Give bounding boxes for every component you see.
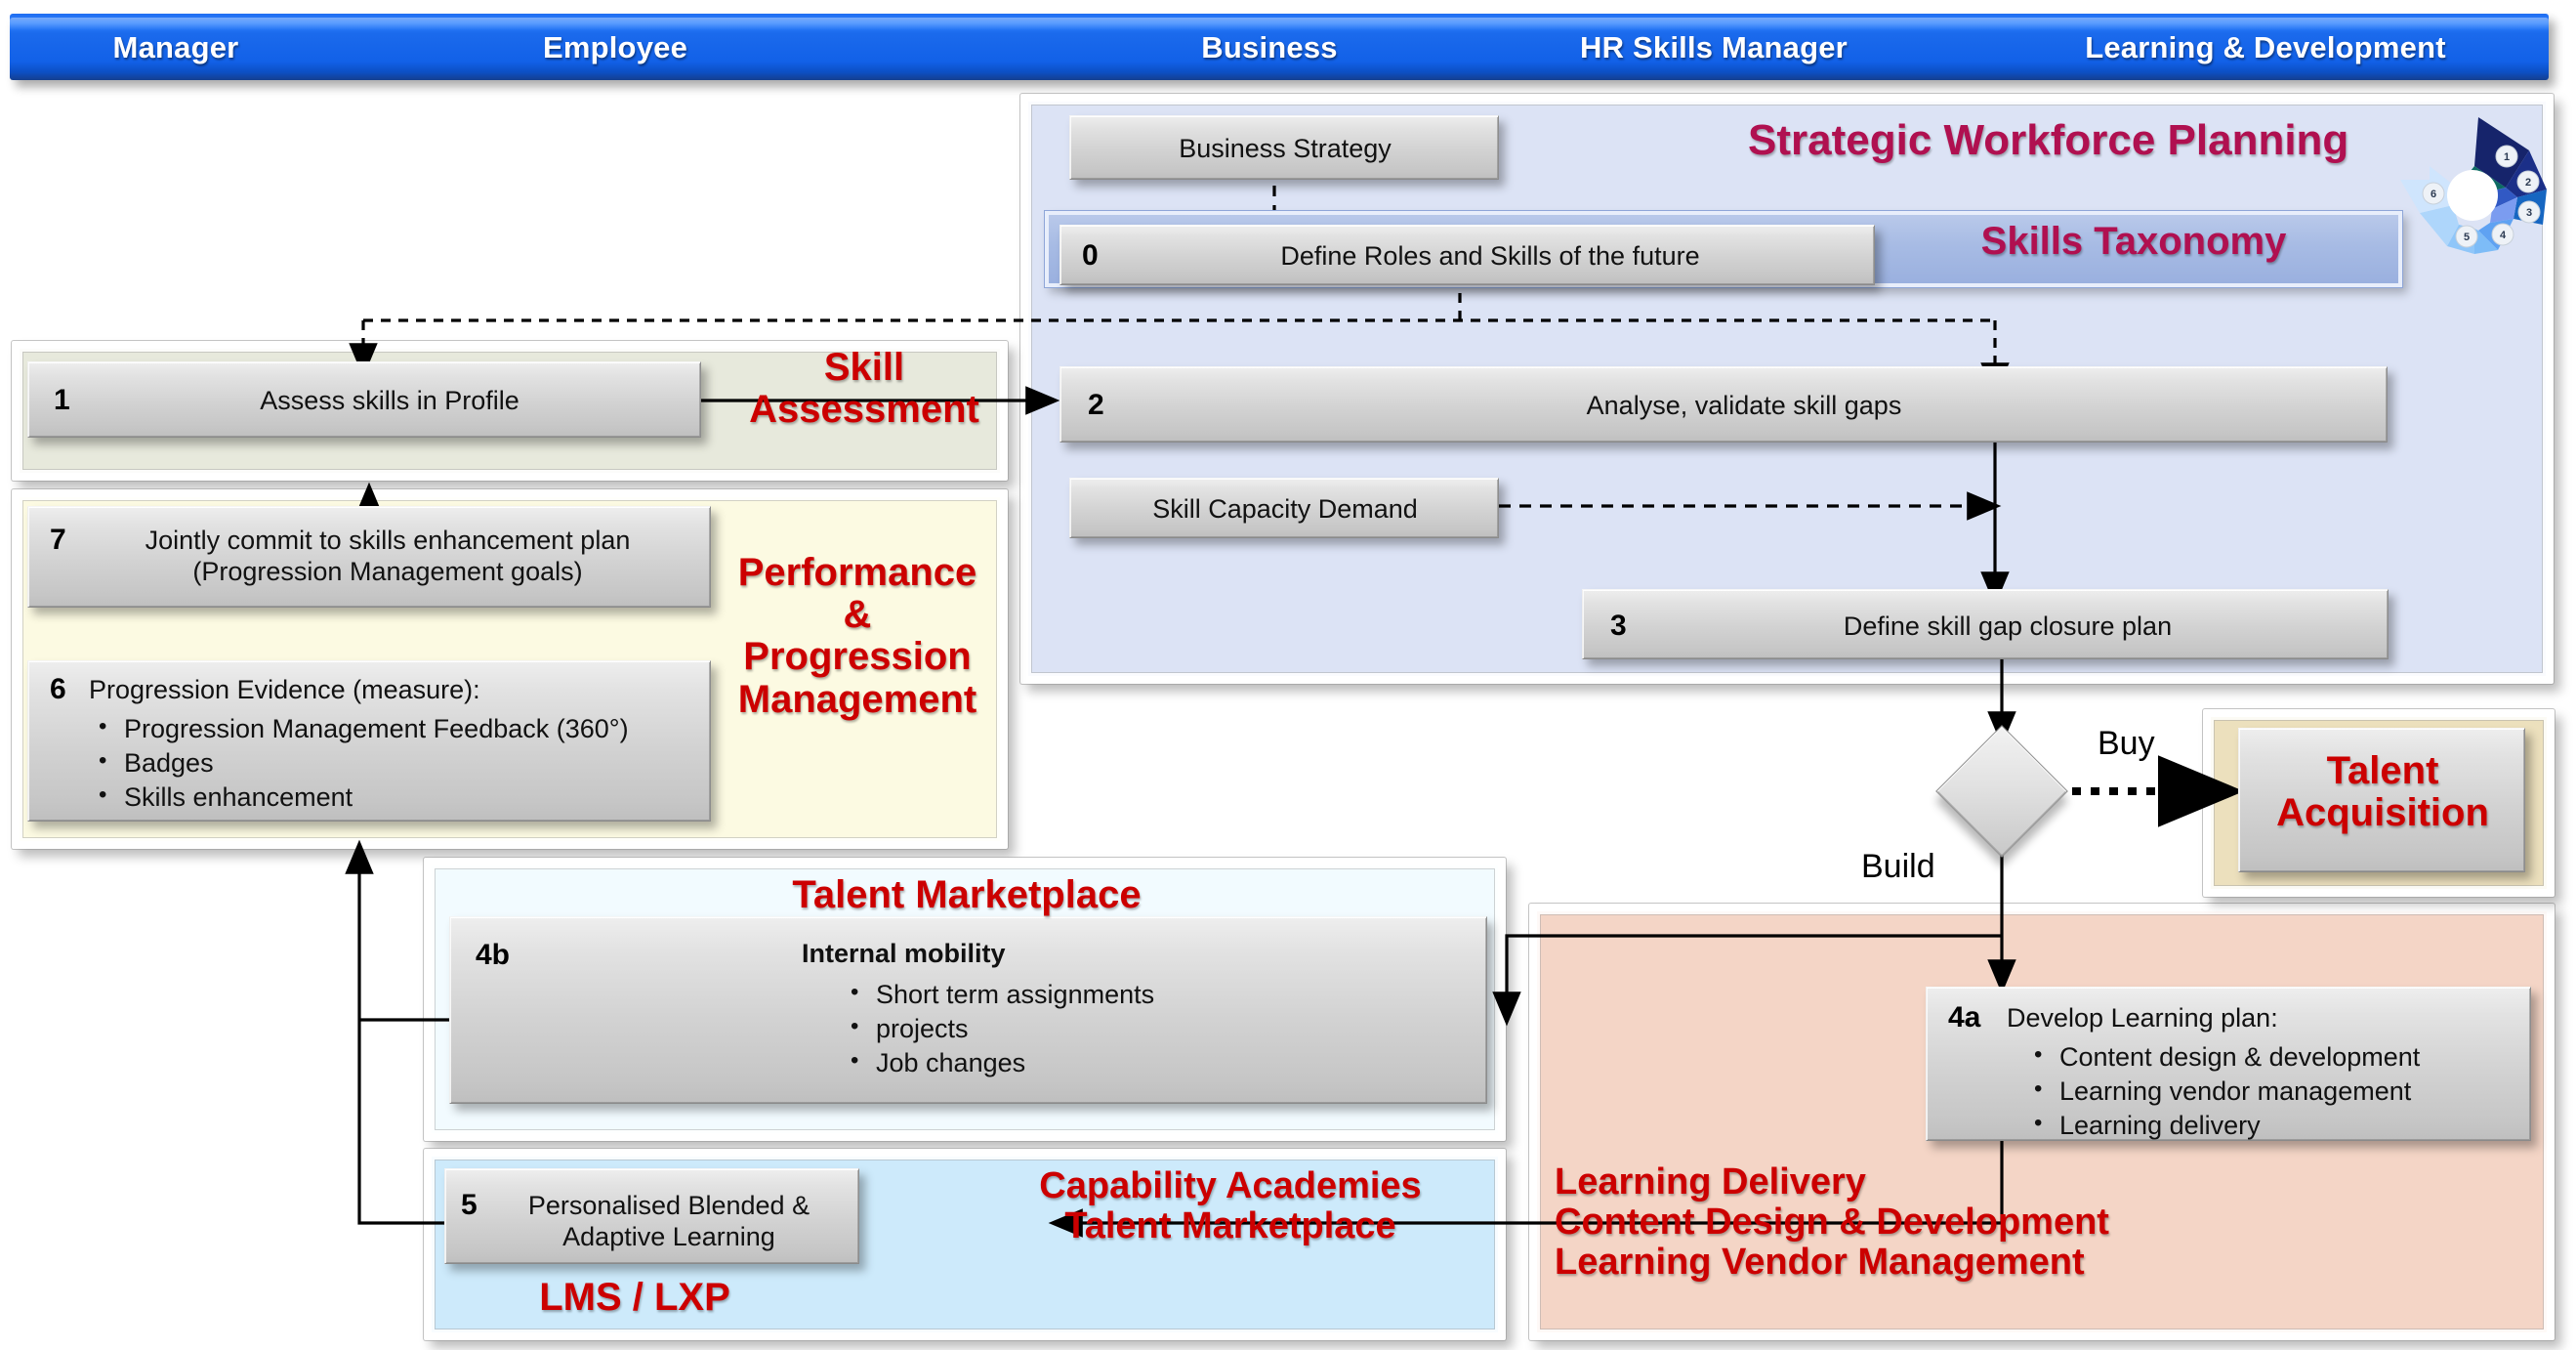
- list-item: projects: [876, 1012, 1446, 1046]
- box-text-step-1: Assess skills in Profile: [97, 386, 683, 417]
- box-number-step-6: 6: [50, 673, 66, 706]
- region-title-capability-academies: Capability Academies Talent Marketplace: [976, 1166, 1484, 1246]
- box-step-6[interactable]: 6 Progression Evidence (measure): Progre…: [27, 660, 711, 822]
- edge-label-build: Build: [1861, 848, 1935, 886]
- box-label-talent-acquisition: Talent Acquisition: [2239, 750, 2526, 834]
- list-item: Progression Management Feedback (360°): [124, 712, 694, 746]
- box-text-step-5: Personalised Blended & Adaptive Learning: [488, 1191, 850, 1253]
- list-item: Job changes: [876, 1046, 1446, 1080]
- box-text-step-4b: Internal mobility: [802, 939, 1407, 970]
- box-bullets-step-4b: Short term assignments projects Job chan…: [841, 978, 1446, 1080]
- box-business-strategy[interactable]: Business Strategy: [1069, 115, 1499, 180]
- list-item: Short term assignments: [876, 978, 1446, 1012]
- region-title-skill-assessment: Skill Assessment: [723, 347, 1006, 431]
- box-number-step-4a: 4a: [1948, 1001, 1980, 1034]
- box-text-step-2: Analyse, validate skill gaps: [1129, 391, 2359, 422]
- box-step-4b[interactable]: 4b Internal mobility Short term assignme…: [449, 916, 1487, 1104]
- region-title-performance-progression-management: Performance & Progression Management: [711, 552, 1004, 721]
- box-number-step-2: 2: [1088, 389, 1104, 422]
- box-text-step-7: Jointly commit to skills enhancement pla…: [85, 526, 690, 588]
- list-item: Content design & development: [2059, 1040, 2522, 1075]
- six-step-cycle-logo: 1 2 3 4 5 6: [2394, 105, 2551, 272]
- svg-text:5: 5: [2464, 232, 2470, 243]
- region-title-strategic-workforce-planning: Strategic Workforce Planning: [1748, 117, 2451, 164]
- box-step-0[interactable]: 0 Define Roles and Skills of the future: [1059, 225, 1875, 285]
- box-text-step-0: Define Roles and Skills of the future: [1119, 241, 1861, 273]
- box-skill-capacity-demand[interactable]: Skill Capacity Demand: [1069, 478, 1499, 538]
- box-step-2[interactable]: 2 Analyse, validate skill gaps: [1059, 366, 2388, 443]
- box-bullets-step-6: Progression Management Feedback (360°) B…: [89, 712, 694, 815]
- region-title-skills-taxonomy: Skills Taxonomy: [1909, 221, 2358, 263]
- box-step-4a[interactable]: 4a Develop Learning plan: Content design…: [1926, 987, 2531, 1141]
- region-title-talent-marketplace: Talent Marketplace: [684, 874, 1250, 916]
- box-text-skill-capacity-demand: Skill Capacity Demand: [1070, 494, 1500, 526]
- list-item: Learning vendor management: [2059, 1075, 2522, 1109]
- box-number-step-7: 7: [50, 524, 66, 557]
- svg-text:2: 2: [2525, 177, 2531, 189]
- edge-label-buy: Buy: [2098, 725, 2155, 763]
- list-item: Badges: [124, 746, 694, 780]
- svg-text:4: 4: [2500, 230, 2507, 241]
- diagram-canvas: Manager Employee Business HR Skills Mana…: [0, 0, 2576, 1350]
- box-step-3[interactable]: 3 Define skill gap closure plan: [1582, 589, 2389, 659]
- box-step-1[interactable]: 1 Assess skills in Profile: [27, 361, 701, 438]
- list-item: Skills enhancement: [124, 780, 694, 815]
- box-step-5[interactable]: 5 Personalised Blended & Adaptive Learni…: [444, 1168, 859, 1264]
- box-number-step-5: 5: [461, 1189, 478, 1222]
- region-title-learning-delivery: Learning Delivery Content Design & Devel…: [1555, 1162, 2531, 1283]
- box-text-step-3: Define skill gap closure plan: [1651, 612, 2364, 643]
- svg-text:3: 3: [2526, 207, 2532, 219]
- box-number-step-4b: 4b: [476, 939, 510, 972]
- region-title-lms-lxp: LMS / LXP: [459, 1277, 810, 1319]
- box-number-step-1: 1: [54, 384, 70, 417]
- box-text-step-6: Progression Evidence (measure):: [89, 675, 694, 706]
- box-step-7[interactable]: 7 Jointly commit to skills enhancement p…: [27, 506, 711, 608]
- box-number-step-3: 3: [1610, 610, 1627, 643]
- box-number-step-0: 0: [1082, 239, 1099, 273]
- box-bullets-step-4a: Content design & development Learning ve…: [2024, 1040, 2522, 1143]
- box-talent-acquisition[interactable]: Talent Acquisition: [2238, 728, 2525, 872]
- box-text-step-4a: Develop Learning plan:: [2007, 1003, 2514, 1034]
- svg-text:1: 1: [2504, 151, 2510, 163]
- list-item: Learning delivery: [2059, 1109, 2522, 1143]
- box-text-business-strategy: Business Strategy: [1070, 134, 1500, 165]
- svg-text:6: 6: [2431, 189, 2436, 200]
